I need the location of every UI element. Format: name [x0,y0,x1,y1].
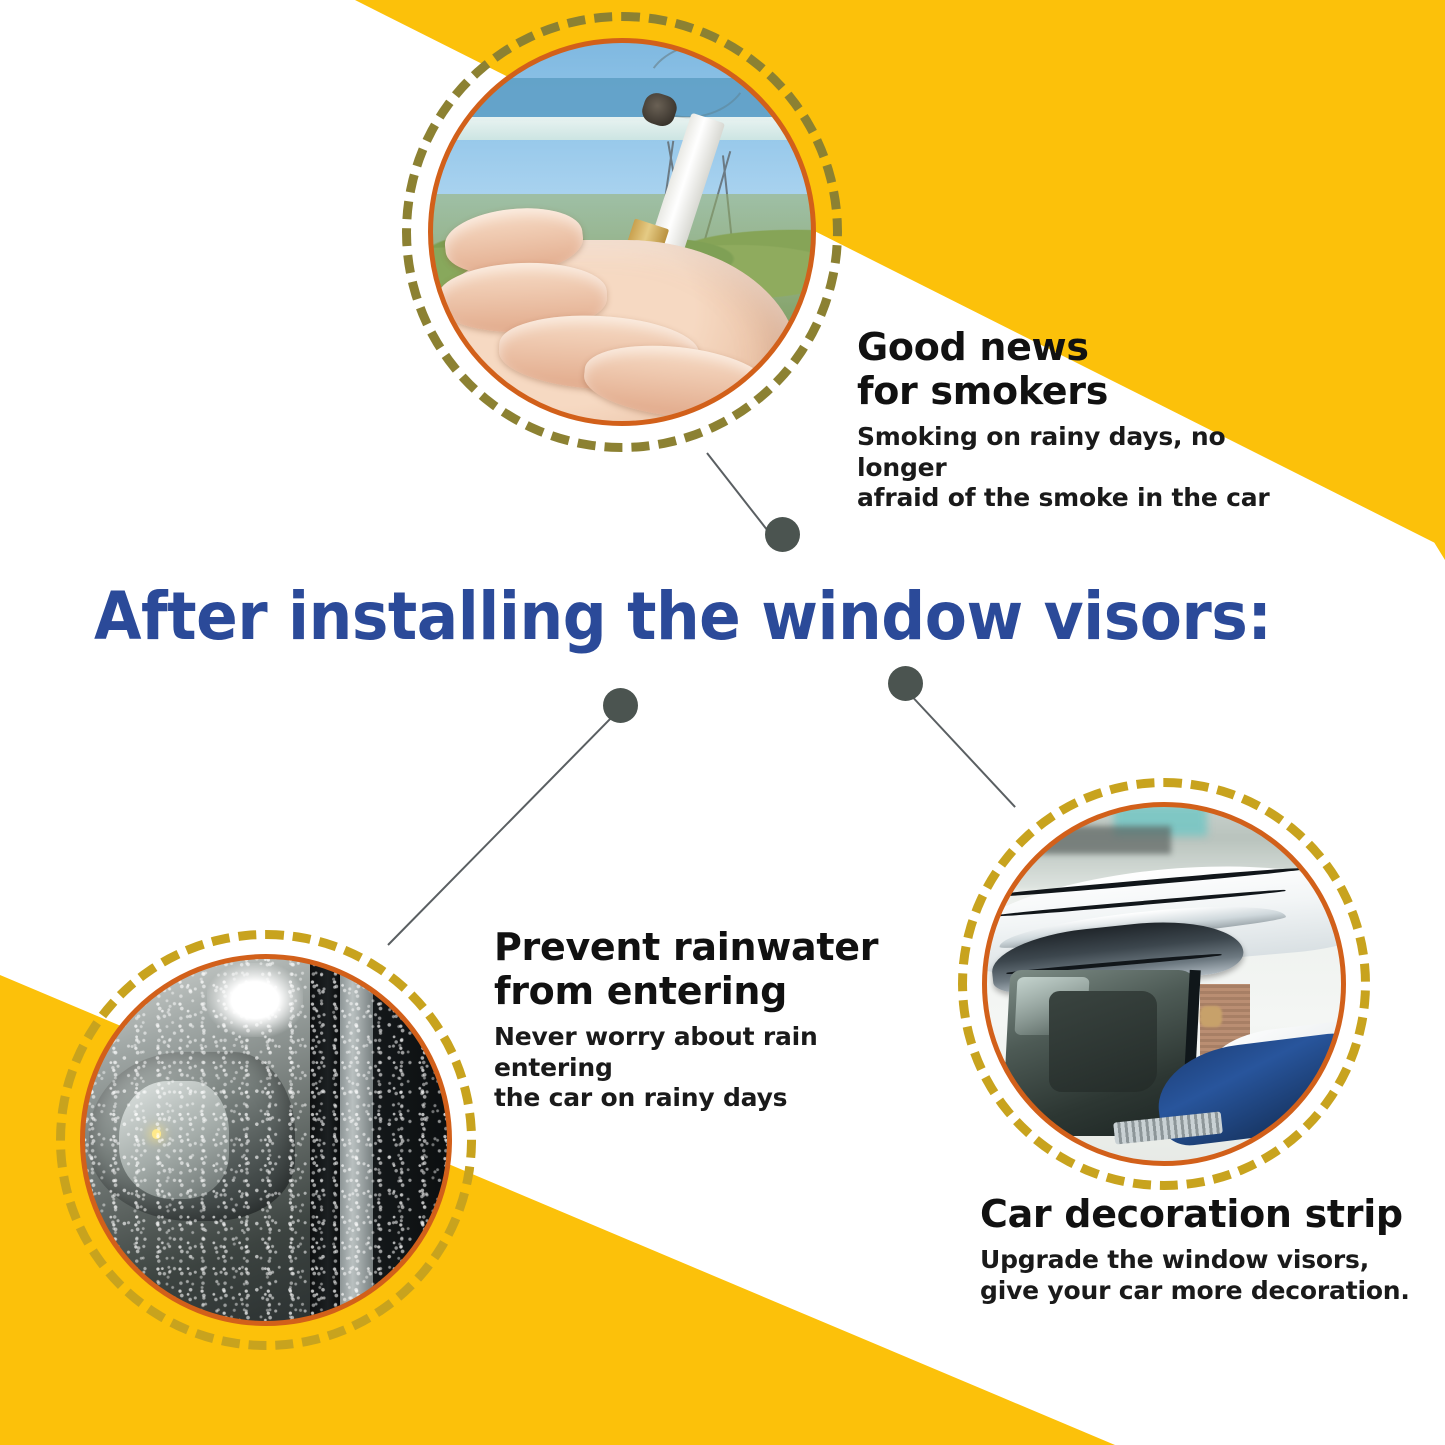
connector-dot-decoration [888,666,923,701]
page-title: After installing the window visors: [94,578,1271,655]
feature-block-decoration: Car decoration strip Upgrade the window … [980,1192,1420,1306]
photo-decoration [984,804,1344,1164]
photo-smokers [430,40,814,424]
feature-subtext-rainwater: Never worry about rain entering the car … [494,1022,914,1114]
feature-subtext-decoration: Upgrade the window visors, give your car… [980,1245,1420,1306]
rainy-car-side-window-photo [82,956,450,1324]
feature-subtext-smokers: Smoking on rainy days, no longer afraid … [857,422,1287,514]
feature-block-rainwater: Prevent rainwater from entering Never wo… [494,925,914,1114]
feature-photo-decoration [958,778,1370,1190]
photo-rainwater [82,956,450,1324]
connector-dot-smokers [765,517,800,552]
feature-heading-rainwater: Prevent rainwater from entering [494,925,914,1013]
infographic-canvas: After installing the window visors: Good… [0,0,1445,1445]
car-window-visor-chrome-strip-photo [984,804,1344,1164]
hand-holding-lit-cigarette-photo [430,40,814,424]
feature-photo-smokers [402,12,842,452]
feature-block-smokers: Good news for smokers Smoking on rainy d… [857,325,1287,514]
feature-heading-smokers: Good news for smokers [857,325,1287,413]
feature-photo-rainwater [56,930,476,1350]
feature-heading-decoration: Car decoration strip [980,1192,1420,1236]
connector-dot-rainwater [603,688,638,723]
